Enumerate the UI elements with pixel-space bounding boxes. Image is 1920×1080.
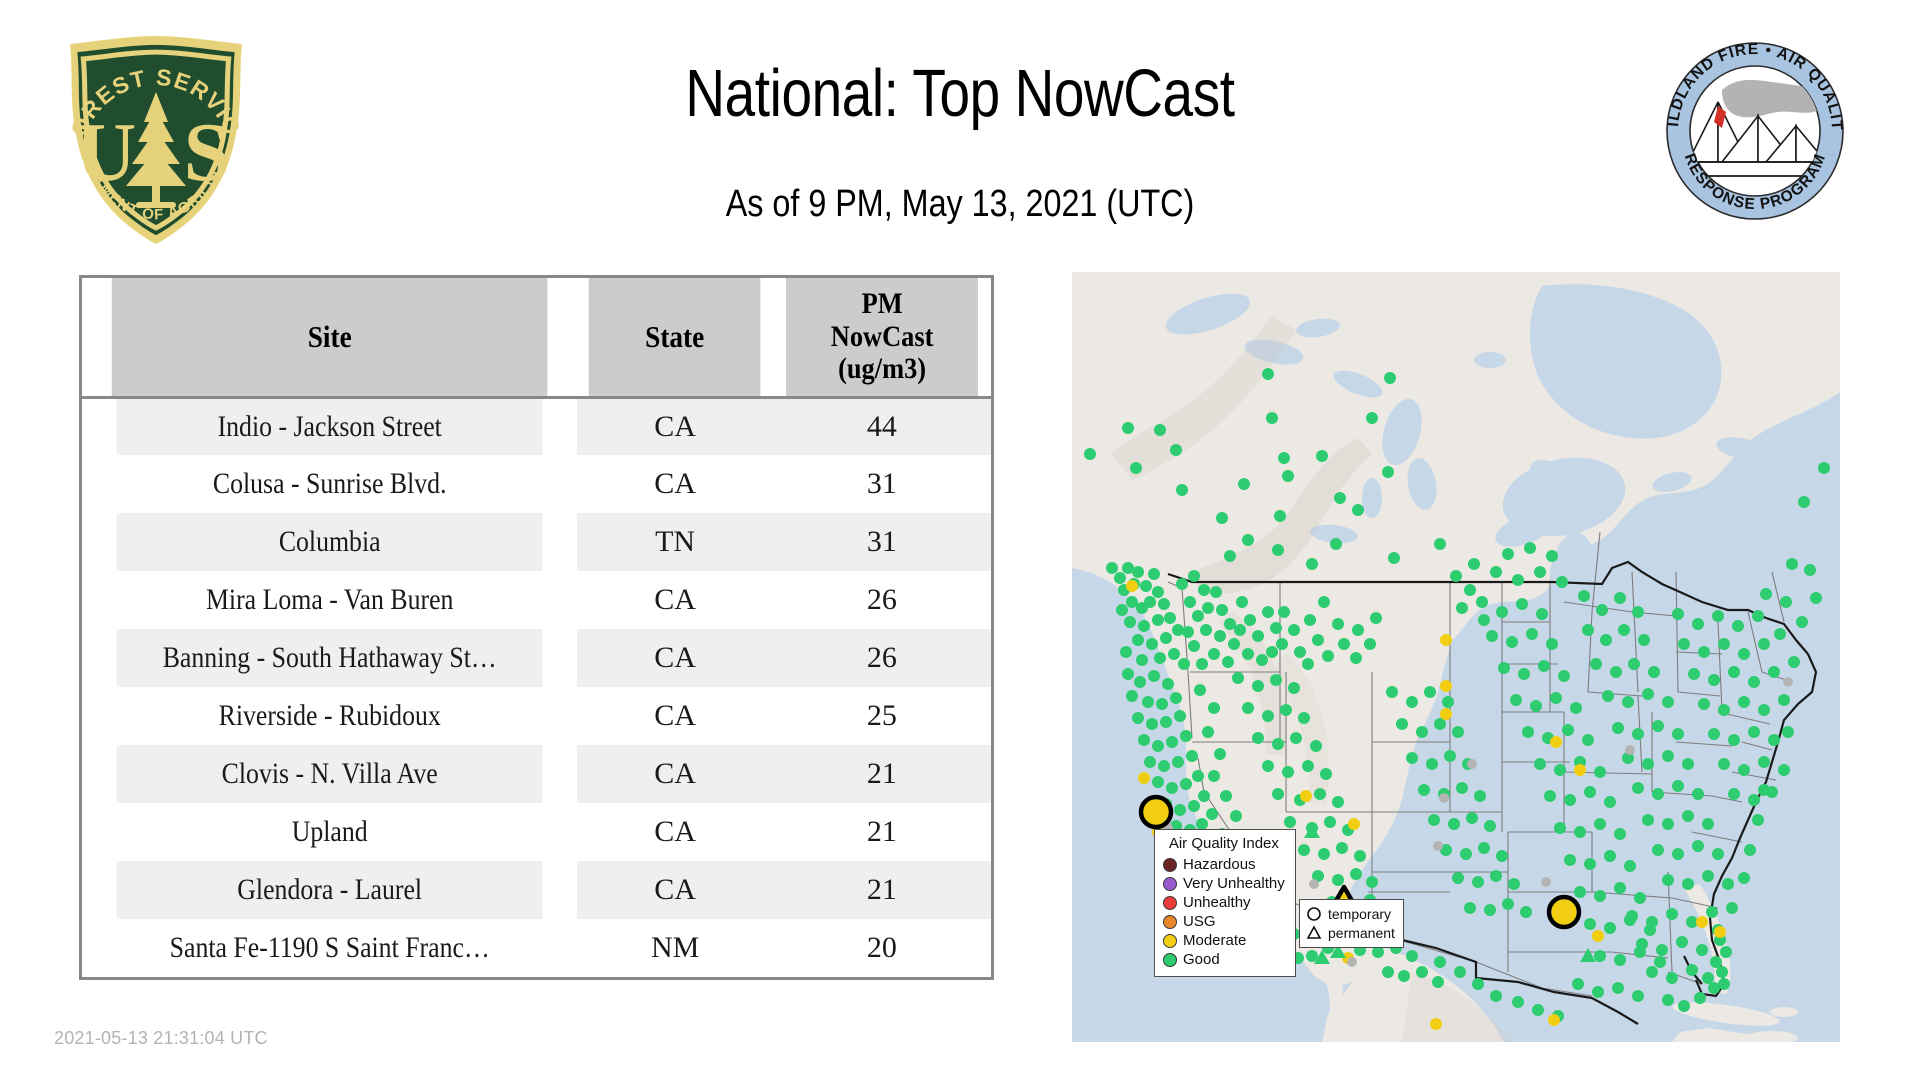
top-nowcast-table: Site State PM NowCast (ug/m3) Indio - Ja… (79, 275, 994, 980)
aqi-legend-item-very-unhealthy: Very Unhealthy (1163, 874, 1285, 893)
page-subtitle: As of 9 PM, May 13, 2021 (UTC) (399, 183, 1521, 226)
cell-site: Colusa - Sunrise Blvd. (117, 455, 543, 513)
cell-site: Santa Fe-1190 S Saint Franc… (117, 919, 543, 977)
monitor-type-label: temporary (1328, 907, 1391, 921)
cell-site: Upland (117, 803, 543, 861)
aqi-legend-title: Air Quality Index (1163, 835, 1285, 852)
pm-header-line2: NowCast (831, 320, 934, 353)
cell-site: Banning - South Hathaway St… (117, 629, 543, 687)
aqi-legend-item-hazardous: Hazardous (1163, 855, 1285, 874)
air-quality-map[interactable]: Air Quality Index Hazardous Very Unhealt… (1072, 272, 1840, 1042)
cell-state: CA (577, 803, 772, 861)
table-row[interactable]: Columbia TN 31 (82, 513, 991, 571)
cell-site: Riverside - Rubidoux (117, 687, 543, 745)
table-header-row: Site State PM NowCast (ug/m3) (82, 278, 991, 397)
cell-state: CA (577, 629, 772, 687)
swatch-moderate (1163, 934, 1177, 948)
table-row[interactable]: Indio - Jackson Street CA 44 (82, 397, 991, 455)
pm-header-line3: (ug/m3) (838, 352, 926, 385)
table-row[interactable]: Upland CA 21 (82, 803, 991, 861)
cell-pm: 21 (773, 803, 991, 861)
cell-site: Glendora - Laurel (117, 861, 543, 919)
cell-site: Mira Loma - Van Buren (117, 571, 543, 629)
column-header-site: Site (112, 278, 548, 397)
aqi-legend: Air Quality Index Hazardous Very Unhealt… (1154, 829, 1296, 977)
table-row[interactable]: Glendora - Laurel CA 21 (82, 861, 991, 919)
aqi-legend-label: Unhealthy (1183, 895, 1251, 910)
aqi-legend-item-good: Good (1163, 950, 1285, 969)
table-row[interactable]: Mira Loma - Van Buren CA 26 (82, 571, 991, 629)
cell-site: Indio - Jackson Street (117, 397, 543, 455)
aqi-legend-item-unhealthy: Unhealthy (1163, 893, 1285, 912)
monitor-type-label: permanent (1328, 926, 1395, 940)
cell-state: TN (577, 513, 772, 571)
table-row[interactable]: Clovis - N. Villa Ave CA 21 (82, 745, 991, 803)
column-header-state: State (589, 278, 761, 397)
cell-state: CA (577, 397, 772, 455)
cell-site: Clovis - N. Villa Ave (117, 745, 543, 803)
aqi-legend-label: Very Unhealthy (1183, 876, 1285, 891)
cell-pm: 21 (773, 861, 991, 919)
cell-pm: 25 (773, 687, 991, 745)
cell-pm: 26 (773, 629, 991, 687)
cell-pm: 26 (773, 571, 991, 629)
cell-state: CA (577, 455, 772, 513)
swatch-usg (1163, 915, 1177, 929)
table-row[interactable]: Riverside - Rubidoux CA 25 (82, 687, 991, 745)
cell-state: CA (577, 861, 772, 919)
cell-state: CA (577, 571, 772, 629)
cell-state: CA (577, 745, 772, 803)
aqi-legend-label: Moderate (1183, 933, 1246, 948)
aqi-legend-item-moderate: Moderate (1163, 931, 1285, 950)
table-row[interactable]: Colusa - Sunrise Blvd. CA 31 (82, 455, 991, 513)
table-row[interactable]: Santa Fe-1190 S Saint Franc… NM 20 (82, 919, 991, 977)
us-forest-service-shield-logo: FOREST SERVICE U S DEPARTMENT OF AGRICUL… (56, 30, 256, 248)
cell-state: CA (577, 687, 772, 745)
swatch-hazardous (1163, 858, 1177, 872)
aqi-legend-label: Good (1183, 952, 1220, 967)
dashboard-page: FOREST SERVICE U S DEPARTMENT OF AGRICUL… (0, 0, 1920, 1080)
swatch-good (1163, 953, 1177, 967)
cell-site: Columbia (117, 513, 543, 571)
swatch-unhealthy (1163, 896, 1177, 910)
cell-pm: 31 (773, 513, 991, 571)
monitor-type-item-permanent: permanent (1306, 923, 1395, 942)
pm-header-line1: PM (861, 287, 902, 320)
swatch-very-unhealthy (1163, 877, 1177, 891)
page-title: National: Top NowCast (419, 55, 1501, 132)
triangle-outline-icon (1306, 925, 1322, 941)
cell-pm: 31 (773, 455, 991, 513)
cell-pm: 20 (773, 919, 991, 977)
monitor-type-item-temporary: temporary (1306, 904, 1395, 923)
wildland-fire-air-quality-logo: WILDLAND FIRE • AIR QUALITY RESPONSE PRO… (1660, 36, 1850, 226)
aqi-legend-item-usg: USG (1163, 912, 1285, 931)
cell-state: NM (577, 919, 772, 977)
cell-pm: 44 (773, 397, 991, 455)
column-header-pm-nowcast: PM NowCast (ug/m3) (786, 278, 978, 397)
monitor-type-legend: temporary permanent (1299, 899, 1404, 948)
cell-pm: 21 (773, 745, 991, 803)
footer-timestamp: 2021-05-13 21:31:04 UTC (54, 1028, 268, 1049)
aqi-legend-label: USG (1183, 914, 1216, 929)
aqi-legend-label: Hazardous (1183, 857, 1256, 872)
table-row[interactable]: Banning - South Hathaway St… CA 26 (82, 629, 991, 687)
circle-outline-icon (1306, 906, 1322, 922)
